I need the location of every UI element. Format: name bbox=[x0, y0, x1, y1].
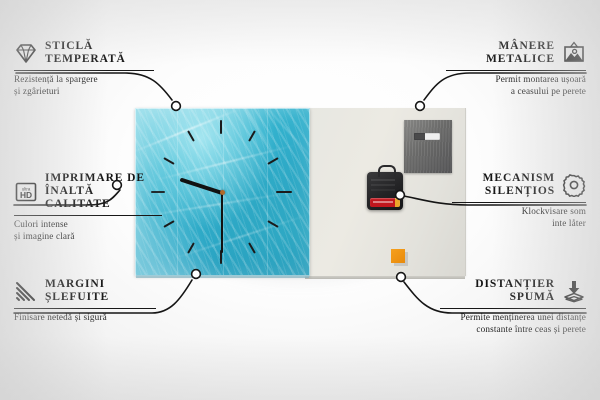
callout-head: ultra HD IMPRIMARE DE ÎNALTĂ CALITATE bbox=[14, 172, 162, 211]
callout-subtitle: Rezistență la spargere și zgârieturi bbox=[14, 74, 154, 97]
callout-head: MECANISM SILENȚIOS bbox=[452, 172, 586, 198]
hour-mark-10 bbox=[163, 157, 174, 165]
feather-streak bbox=[168, 213, 310, 261]
picture-hanger-icon bbox=[562, 41, 586, 65]
clock-back-panel bbox=[305, 108, 466, 276]
hour-mark-11 bbox=[187, 130, 195, 141]
diamond-icon bbox=[14, 41, 38, 65]
glass-seam bbox=[267, 108, 268, 276]
callout-imprimare-inalta-calitate[interactable]: ultra HD IMPRIMARE DE ÎNALTĂ CALITATE Cu… bbox=[14, 172, 162, 242]
callout-margini-slefuite[interactable]: MARGINI ȘLEFUITE Finisare netedă și sigu… bbox=[14, 278, 156, 324]
minute-hand bbox=[221, 193, 223, 253]
clock-mechanism bbox=[367, 172, 403, 210]
callout-subtitle: Culori intense și imagine clară bbox=[14, 219, 162, 242]
callout-rule bbox=[14, 308, 156, 309]
callout-head: MÂNERE METALICE bbox=[446, 40, 586, 66]
hour-mark-8 bbox=[163, 220, 174, 228]
ultra-hd-icon: ultra HD bbox=[14, 180, 38, 204]
battery bbox=[370, 198, 400, 207]
callout-head: STICLĂ TEMPERATĂ bbox=[14, 40, 154, 66]
beveled-edge-icon bbox=[14, 279, 38, 303]
foam-spacer bbox=[391, 249, 405, 263]
callout-subtitle: Permit montarea ușoară a ceasului pe per… bbox=[446, 74, 586, 97]
hour-mark-5 bbox=[248, 242, 256, 253]
callout-subtitle: Klockvisare som inte låter bbox=[452, 206, 586, 229]
callout-title: MARGINI ȘLEFUITE bbox=[45, 278, 109, 304]
callout-rule bbox=[452, 202, 586, 203]
callout-head: DISTANȚIER SPUMĂ bbox=[440, 278, 586, 304]
callout-mecanism-silentios[interactable]: MECANISM SILENȚIOS Klockvisare som inte … bbox=[452, 172, 586, 229]
callout-title: STICLĂ TEMPERATĂ bbox=[45, 40, 126, 66]
hanger-slot bbox=[414, 133, 440, 140]
callout-title: MECANISM SILENȚIOS bbox=[483, 172, 555, 198]
hour-mark-1 bbox=[248, 130, 256, 141]
callout-manere-metalice[interactable]: MÂNERE METALICE Permit montarea ușoară a… bbox=[446, 40, 586, 97]
callout-sticla-temperata[interactable]: STICLĂ TEMPERATĂ Rezistență la spargere … bbox=[14, 40, 154, 97]
infographic-canvas: STICLĂ TEMPERATĂ Rezistență la spargere … bbox=[0, 0, 600, 400]
product-photo bbox=[135, 108, 465, 278]
gear-icon bbox=[562, 173, 586, 197]
callout-rule bbox=[14, 215, 162, 216]
callout-rule bbox=[14, 70, 154, 71]
callout-rule bbox=[446, 70, 586, 71]
callout-title: DISTANȚIER SPUMĂ bbox=[475, 278, 555, 304]
callout-subtitle: Finisare netedă și sigură bbox=[14, 312, 156, 324]
clock-center-pin bbox=[220, 190, 225, 195]
spacer-arrow-icon bbox=[562, 279, 586, 303]
mechanism-ridges bbox=[371, 179, 395, 181]
svg-text:HD: HD bbox=[20, 190, 32, 200]
callout-rule bbox=[440, 308, 586, 309]
metal-hanger bbox=[404, 120, 452, 173]
callout-title: IMPRIMARE DE ÎNALTĂ CALITATE bbox=[45, 172, 162, 211]
mechanism-loop bbox=[378, 165, 396, 177]
hour-hand bbox=[180, 178, 223, 195]
callout-distantier-spuma[interactable]: DISTANȚIER SPUMĂ Permite menținerea unei… bbox=[440, 278, 586, 335]
callout-subtitle: Permite menținerea unei distanțe constan… bbox=[440, 312, 586, 335]
callout-head: MARGINI ȘLEFUITE bbox=[14, 278, 156, 304]
hour-mark-3 bbox=[276, 191, 292, 193]
hour-mark-12 bbox=[220, 120, 222, 134]
callout-title: MÂNERE METALICE bbox=[486, 40, 555, 66]
